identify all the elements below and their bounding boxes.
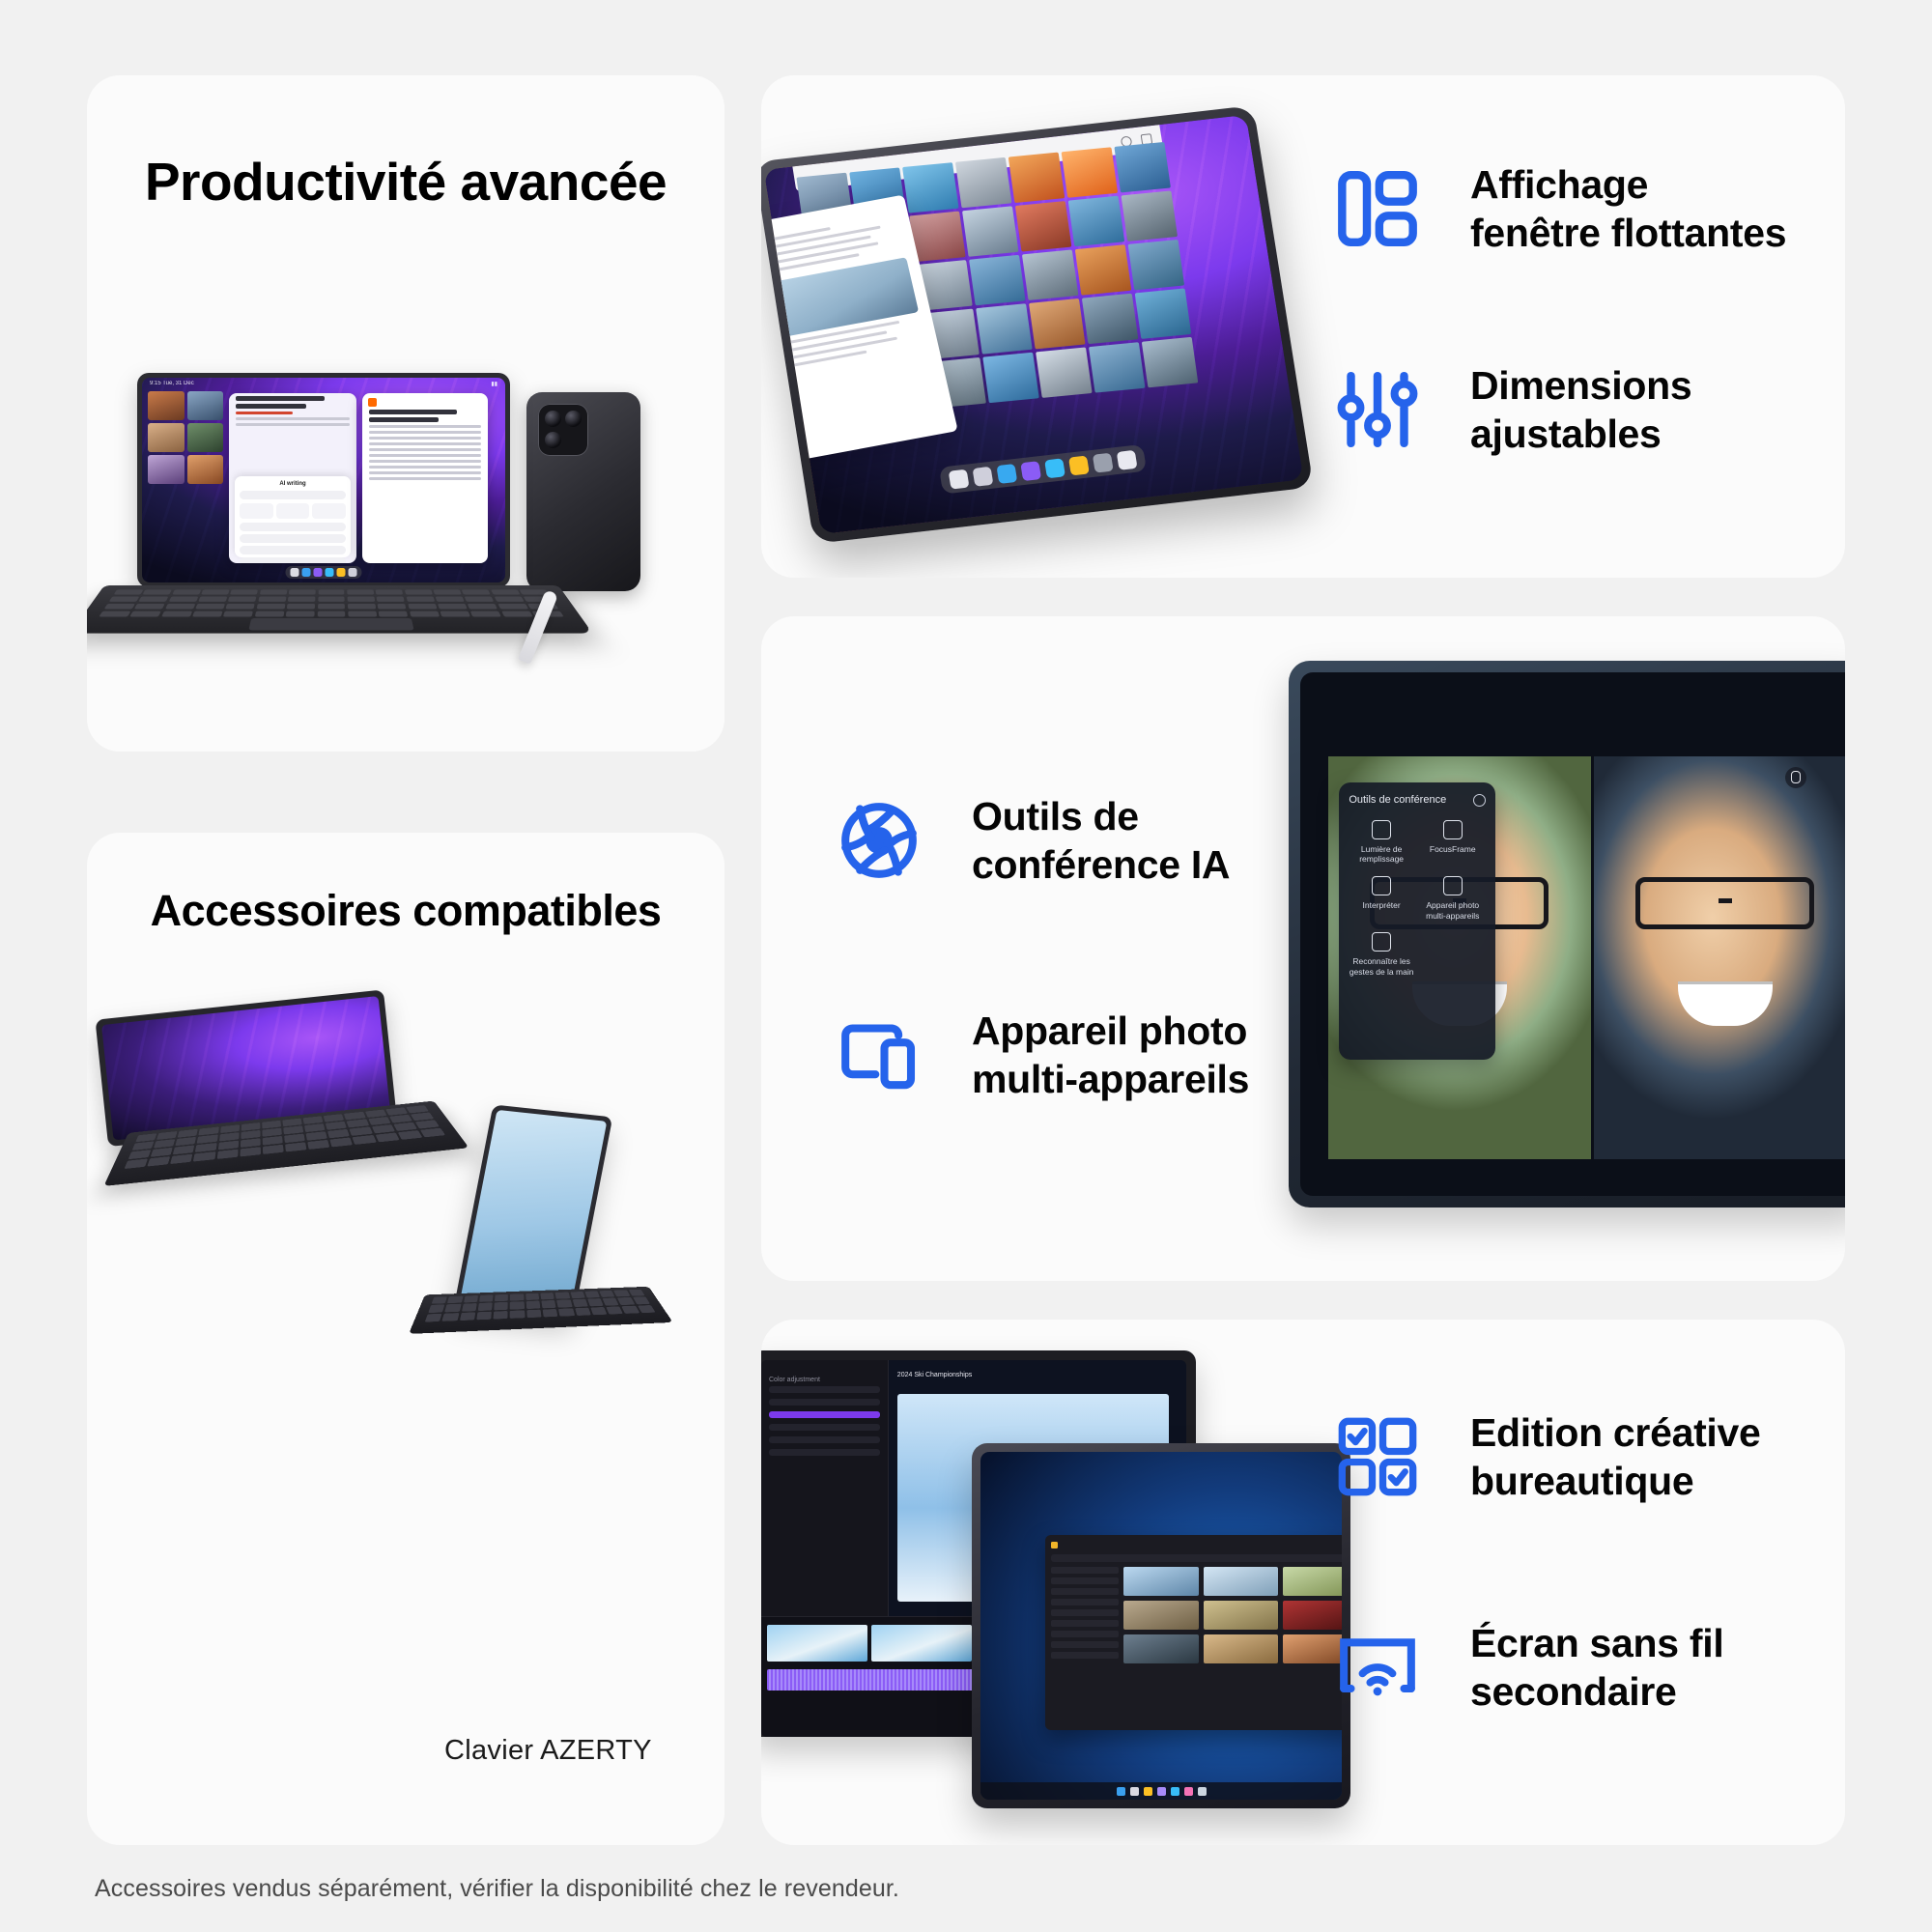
window-title-bar[interactable] [1051, 1541, 1342, 1549]
tablet-screen [460, 1110, 608, 1315]
fill-light-icon [1372, 820, 1391, 839]
ai-writing-panel: AI writing [235, 476, 351, 557]
tool-label: Reconnaître les gestes de la main [1350, 956, 1414, 977]
panel-title: Outils de conférence [1349, 794, 1446, 806]
multi-device-camera-icon [1443, 876, 1463, 895]
phone-camera-module [538, 404, 588, 456]
tool-label: FocusFrame [1430, 844, 1476, 854]
wireless-display-icon [1335, 1625, 1420, 1710]
detached-keyboard [409, 1287, 673, 1334]
glasses [1635, 877, 1814, 929]
window-ai-writing: AI writing [229, 393, 356, 563]
card-conference: Outils de conférence IA Appareil photo m… [761, 616, 1845, 1281]
ai-tone-simple[interactable] [240, 546, 346, 554]
tablet-illustration: 9:15 Tue, 31 Dec ▮▮ [137, 373, 510, 587]
gear-icon[interactable] [1473, 794, 1486, 807]
editor-sidebar: Color adjustment [761, 1360, 889, 1616]
sliders-icon [1335, 367, 1420, 452]
smile [1678, 981, 1773, 1026]
status-bar-indicators: ▮▮ [491, 381, 497, 387]
focus-frame-icon [1443, 820, 1463, 839]
ai-action-chips[interactable] [240, 503, 346, 519]
keyboard-tag-label: Clavier AZERTY [444, 1735, 652, 1767]
participant-tile [1591, 756, 1845, 1159]
window-toolbar[interactable] [1051, 1554, 1342, 1562]
panel-header: Outils de conférence [1349, 794, 1485, 807]
conference-tools-grid: Lumière de remplissage FocusFrame Interp… [1349, 820, 1485, 978]
app-logo-icon [368, 398, 377, 407]
tool-fill-light[interactable]: Lumière de remplissage [1349, 820, 1414, 865]
tool-label: Interpréter [1363, 900, 1401, 910]
tablet-illustration [972, 1443, 1350, 1808]
tool-focus-frame[interactable]: FocusFrame [1420, 820, 1486, 865]
card-productivity: Productivité avancée 9:15 Tue, 31 Dec ▮▮ [87, 75, 724, 752]
card-floating-windows: Affichage fenêtre flottantes Dimensions … [761, 75, 1845, 578]
keyboard-folio-illustration [95, 986, 432, 1211]
tablet-screen [763, 115, 1303, 534]
phone-rear-illustration [526, 392, 640, 591]
tool-hand-gesture[interactable]: Reconnaître les gestes de la main [1349, 932, 1414, 977]
stand-case-illustration [427, 1109, 688, 1360]
feature-creative-editing: Edition créative bureautique [1335, 1408, 1761, 1505]
tablet-screen: 9:15 Tue, 31 Dec ▮▮ [142, 378, 505, 582]
feature-floating-windows: Affichage fenêtre flottantes [1335, 160, 1786, 257]
feature-multi-device-camera: Appareil photo multi-appareils [837, 1007, 1249, 1103]
feature-label: Écran sans fil secondaire [1470, 1619, 1723, 1716]
feature-ai-conference-tools: Outils de conférence IA [837, 792, 1230, 889]
footer-disclaimer: Accessoires vendus séparément, vérifier … [95, 1875, 899, 1903]
ai-prompt-input[interactable] [240, 491, 346, 499]
floating-windows-illustration [779, 93, 1320, 560]
document-image [763, 257, 919, 339]
ai-tone-friendly[interactable] [240, 557, 346, 563]
tablet-illustration [761, 105, 1314, 544]
mute-icon[interactable] [1785, 767, 1806, 788]
aperture-icon [837, 798, 922, 883]
explorer-nav[interactable] [1051, 1567, 1119, 1721]
explorer-thumbnails[interactable] [1123, 1567, 1342, 1721]
ai-panel-title: AI writing [240, 481, 346, 487]
status-bar-clock: 9:15 Tue, 31 Dec [150, 381, 194, 386]
tool-label: Lumière de remplissage [1359, 844, 1404, 865]
tablet-illustration: Outils de conférence Lumière de rempliss… [1289, 661, 1845, 1207]
feature-adjustable-dimensions: Dimensions ajustables [1335, 361, 1691, 458]
page-title: Productivité avancée [87, 153, 724, 213]
productivity-illustration: 9:15 Tue, 31 Dec ▮▮ [87, 365, 724, 752]
card-accessories: Accessoires compatibles [87, 833, 724, 1845]
tool-interpret[interactable]: Interpréter [1349, 876, 1414, 921]
conference-tools-panel: Outils de conférence Lumière de rempliss… [1339, 782, 1494, 1060]
tablet-screen [980, 1452, 1342, 1800]
status-bar: 9:15 Tue, 31 Dec ▮▮ [142, 378, 505, 389]
accessories-illustration [87, 833, 724, 1845]
taskbar[interactable] [980, 1782, 1342, 1800]
trackpad [248, 618, 413, 630]
feature-label: Outils de conférence IA [972, 792, 1230, 889]
interpret-icon [1372, 876, 1391, 895]
ai-tone-general[interactable] [240, 523, 346, 531]
editor-panel-title: Color adjustment [769, 1377, 880, 1383]
floating-windows-icon [1335, 166, 1420, 251]
window-article-reader [362, 393, 488, 563]
tool-label: Appareil photo multi-appareils [1426, 900, 1479, 921]
checkbox-grid-icon [1335, 1414, 1420, 1499]
tablet-screen: Outils de conférence Lumière de rempliss… [1300, 672, 1845, 1196]
feature-label: Dimensions ajustables [1470, 361, 1691, 458]
feature-label: Appareil photo multi-appareils [972, 1007, 1249, 1103]
product-feature-page: Productivité avancée 9:15 Tue, 31 Dec ▮▮ [0, 0, 1932, 1932]
file-explorer-window [1045, 1535, 1342, 1730]
keyboard-illustration [87, 585, 593, 634]
ai-tone-professional[interactable] [240, 534, 346, 543]
keyboard-keys [425, 1290, 656, 1322]
feature-label: Edition créative bureautique [1470, 1408, 1761, 1505]
card-creative: Color adjustment 2024 Ski Championships [761, 1320, 1845, 1845]
keyboard-keys [99, 589, 563, 616]
feature-wireless-display: Écran sans fil secondaire [1335, 1619, 1723, 1716]
gallery-thumbnails [148, 391, 223, 561]
feature-label: Affichage fenêtre flottantes [1470, 160, 1786, 257]
conference-illustration: Outils de conférence Lumière de rempliss… [1289, 661, 1845, 1235]
creative-illustration: Color adjustment 2024 Ski Championships [761, 1350, 1350, 1845]
multi-device-camera-icon [837, 1012, 922, 1097]
project-title: 2024 Ski Championships [897, 1372, 972, 1378]
dock[interactable] [286, 566, 362, 579]
hand-gesture-icon [1372, 932, 1391, 952]
tool-multi-device-camera[interactable]: Appareil photo multi-appareils [1420, 876, 1486, 921]
